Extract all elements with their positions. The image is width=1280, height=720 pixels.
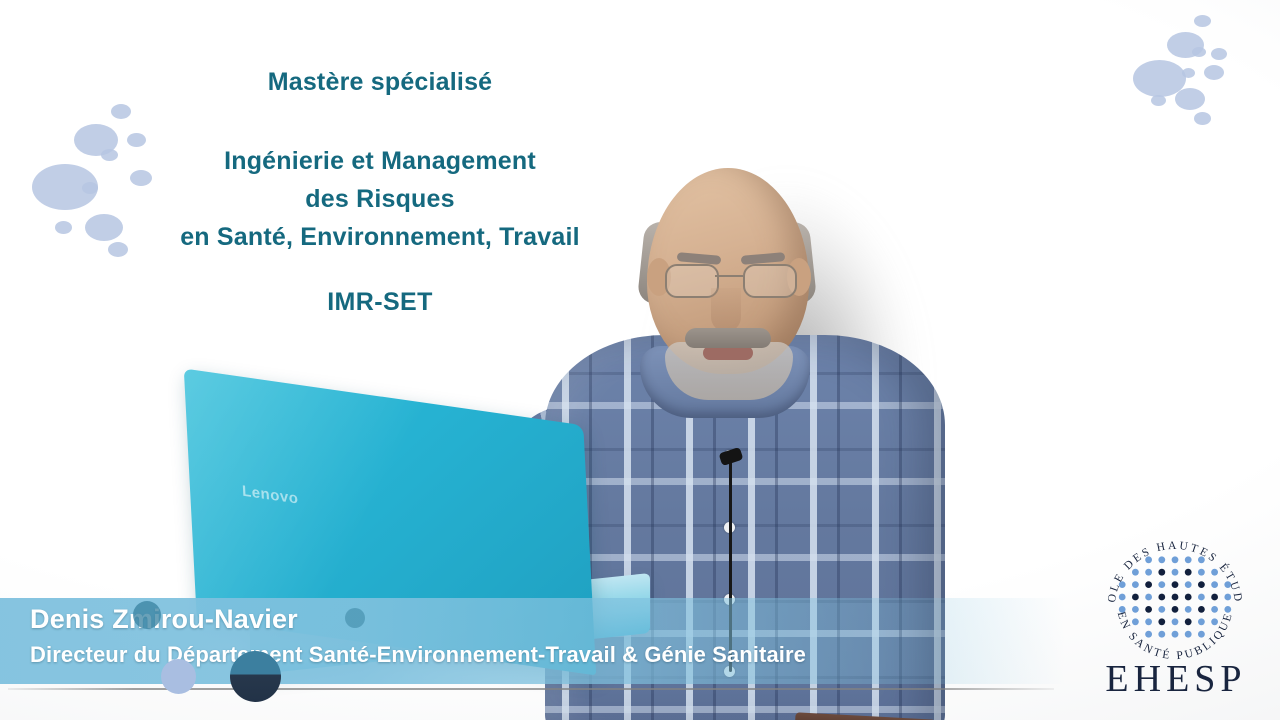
logo-dot bbox=[1145, 581, 1152, 588]
logo-dot bbox=[1145, 569, 1152, 576]
logo-dot bbox=[1224, 581, 1231, 588]
eyeglass-bridge bbox=[715, 275, 743, 277]
decorative-bubble bbox=[82, 182, 98, 194]
logo-dot bbox=[1158, 606, 1165, 613]
logo-dot bbox=[1211, 569, 1218, 576]
logo-dot bbox=[1185, 618, 1192, 625]
logo-dot bbox=[1185, 631, 1192, 638]
logo-dot bbox=[1158, 569, 1165, 576]
decorative-bubble bbox=[1204, 65, 1224, 80]
decorative-bubble bbox=[1211, 48, 1227, 60]
decorative-bubble bbox=[1194, 112, 1211, 125]
logo-dot bbox=[1185, 606, 1192, 613]
decorative-bubbles-right bbox=[1128, 8, 1268, 138]
logo-dot bbox=[1172, 606, 1179, 613]
logo-dot bbox=[1132, 594, 1139, 601]
decorative-bubble bbox=[1194, 15, 1211, 27]
logo-dot bbox=[1198, 581, 1205, 588]
logo-dot bbox=[1119, 606, 1126, 613]
ehesp-logo: ÉCOLE DES HAUTES ÉTUDES EN SANTÉ PUBLIQU… bbox=[1081, 533, 1271, 713]
presenter-mouth bbox=[703, 346, 753, 360]
logo-dot bbox=[1211, 606, 1218, 613]
speaker-role: Directeur du Département Santé-Environne… bbox=[30, 642, 806, 668]
ehesp-wordmark: EHESP bbox=[1081, 657, 1271, 701]
logo-dot bbox=[1172, 581, 1179, 588]
video-slide-frame: Lenovo Mastère spécialisé Ingénierie et … bbox=[0, 0, 1280, 720]
logo-dot bbox=[1145, 618, 1152, 625]
eyeglass-lens-right bbox=[743, 264, 797, 298]
decorative-bubble bbox=[108, 242, 128, 257]
decorative-bubble bbox=[1151, 95, 1166, 106]
logo-dot bbox=[1198, 618, 1205, 625]
logo-dot bbox=[1132, 581, 1139, 588]
logo-dot bbox=[1158, 556, 1165, 563]
logo-dot bbox=[1132, 618, 1139, 625]
logo-dot bbox=[1198, 606, 1205, 613]
presenter-mustache bbox=[685, 328, 771, 348]
logo-dot bbox=[1198, 556, 1205, 563]
logo-dot bbox=[1145, 631, 1152, 638]
logo-dot bbox=[1145, 556, 1152, 563]
logo-dot bbox=[1132, 606, 1139, 613]
logo-dot bbox=[1158, 594, 1165, 601]
decorative-bubble bbox=[111, 104, 131, 119]
logo-dot bbox=[1145, 606, 1152, 613]
decorative-bubble bbox=[85, 214, 123, 241]
decorative-bubble bbox=[55, 221, 72, 234]
logo-dot bbox=[1224, 606, 1231, 613]
decorative-bubbles-left bbox=[18, 80, 188, 250]
logo-dot bbox=[1119, 581, 1126, 588]
logo-dot bbox=[1158, 631, 1165, 638]
decorative-bubble bbox=[127, 133, 146, 147]
logo-dot bbox=[1145, 594, 1152, 601]
decorative-bubble bbox=[130, 170, 152, 186]
speaker-name: Denis Zmirou-Navier bbox=[30, 604, 298, 635]
logo-dot bbox=[1119, 594, 1126, 601]
decorative-dot-light bbox=[161, 659, 196, 694]
logo-dot bbox=[1224, 594, 1231, 601]
logo-dot bbox=[1198, 569, 1205, 576]
logo-dot bbox=[1158, 581, 1165, 588]
logo-dot bbox=[1172, 569, 1179, 576]
logo-dot bbox=[1198, 631, 1205, 638]
logo-dot bbox=[1172, 594, 1179, 601]
logo-dot bbox=[1185, 569, 1192, 576]
logo-dot bbox=[1185, 594, 1192, 601]
ehesp-logo-mark: ÉCOLE DES HAUTES ÉTUDES EN SANTÉ PUBLIQU… bbox=[1099, 533, 1251, 663]
decorative-dot-dark bbox=[230, 651, 281, 702]
decorative-dot-small bbox=[345, 608, 365, 628]
logo-dot bbox=[1172, 618, 1179, 625]
logo-dot bbox=[1185, 556, 1192, 563]
logo-dot bbox=[1211, 581, 1218, 588]
presenter-nose bbox=[711, 288, 741, 332]
decorative-bubble bbox=[1175, 88, 1205, 110]
decorative-bubble bbox=[1192, 47, 1206, 57]
logo-dot bbox=[1211, 618, 1218, 625]
logo-dot bbox=[1211, 594, 1218, 601]
svg-text:ÉCOLE DES HAUTES ÉTUDES: ÉCOLE DES HAUTES ÉTUDES bbox=[1099, 533, 1244, 605]
logo-dot bbox=[1172, 556, 1179, 563]
logo-dot bbox=[1198, 594, 1205, 601]
decorative-bubble bbox=[1182, 68, 1195, 78]
decorative-dot-mid bbox=[133, 601, 161, 629]
logo-dot bbox=[1172, 631, 1179, 638]
logo-dot bbox=[1158, 618, 1165, 625]
decorative-bubble bbox=[101, 149, 118, 161]
logo-dot bbox=[1185, 581, 1192, 588]
logo-dot bbox=[1132, 569, 1139, 576]
